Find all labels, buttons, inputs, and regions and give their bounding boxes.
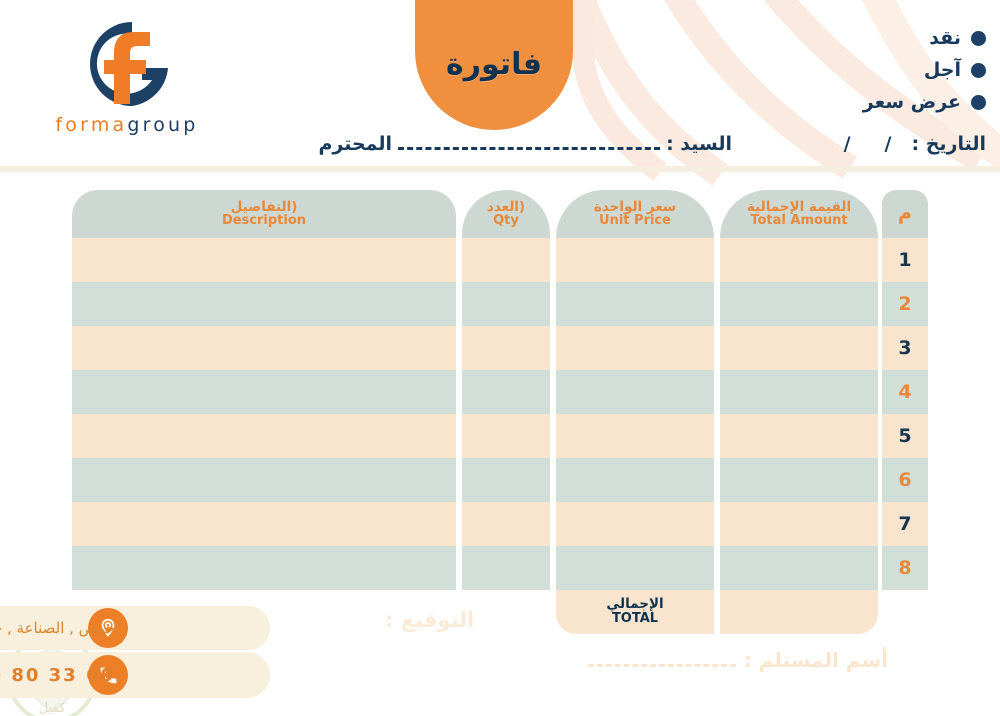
cell-qty[interactable] [462,502,550,546]
invoice-title-badge: فاتورة [415,0,573,130]
receiver-name-field[interactable]: أسم المستلم : [588,648,888,672]
cell-description[interactable] [72,502,456,546]
cell-row-number: 3 [882,326,928,370]
cell-qty[interactable] [462,370,550,414]
table-row: 8 [0,546,1000,590]
header-divider [0,166,1000,172]
cell-unit-price[interactable] [556,502,714,546]
radio-dot-icon[interactable] [971,95,986,110]
forma-g-monogram-icon [80,18,180,110]
cell-description[interactable] [72,546,456,590]
cell-row-number: 2 [882,282,928,326]
cell-qty[interactable] [462,282,550,326]
table-row: 2 [0,282,1000,326]
payment-option-quote[interactable]: عرض سعر [756,86,986,118]
column-header-unit-price: سعر الواحدة Unit Price [556,190,714,238]
address-pill: حمص , الصناعة , خلف كراج الحجز [0,606,270,650]
phone-pill: 09 30 80 33 60 [0,652,270,698]
date-field[interactable]: التاريخ : / / [830,133,986,155]
cell-qty[interactable] [462,326,550,370]
date-slash-1: / [871,133,906,155]
payment-option-cash[interactable]: نقد [756,22,986,54]
company-logo: formagroup [22,18,232,138]
cell-unit-price[interactable] [556,414,714,458]
cell-qty[interactable] [462,238,550,282]
column-header-ar: القيمة الإجمالية [747,200,851,214]
payment-option-credit[interactable]: آجل [756,54,986,86]
table-row: 6 [0,458,1000,502]
customer-name-field[interactable]: السيد : المحترم [318,133,732,155]
column-header-description: (التفاصيل Description [72,190,456,238]
column-header-ar: (العدد [487,200,525,214]
table-row: 3 [0,326,1000,370]
table-header-row: (التفاصيل Description (العدد Qty سعر الو… [0,190,1000,238]
cell-row-number: 6 [882,458,928,502]
cell-unit-price[interactable] [556,238,714,282]
cell-total-amount[interactable] [720,546,878,590]
cell-unit-price[interactable] [556,546,714,590]
cell-total-amount[interactable] [720,502,878,546]
radio-dot-icon[interactable] [971,63,986,78]
cell-row-number: 1 [882,238,928,282]
cell-row-number: 8 [882,546,928,590]
column-header-en: Qty [493,214,519,228]
table-row: 5 [0,414,1000,458]
invoice-header: formagroup فاتورة نقد آجل عرض سعر التاري [0,0,1000,168]
column-header-ar: (التفاصيل [231,200,298,214]
payment-option-label: نقد [929,27,961,49]
invoice-title: فاتورة [446,47,542,82]
cell-unit-price[interactable] [556,458,714,502]
column-header-ar: سعر الواحدة [594,200,676,214]
cell-row-number: 5 [882,414,928,458]
phone-text: 09 30 80 33 60 [0,665,115,686]
customer-name-suffix: المحترم [318,133,392,155]
cell-total-amount[interactable] [720,238,878,282]
cell-total-amount[interactable] [720,414,878,458]
payment-option-label: آجل [924,59,961,81]
cell-row-number: 4 [882,370,928,414]
radio-dot-icon[interactable] [971,31,986,46]
date-label: التاريخ : [911,133,986,155]
signature-label: التوقيع : [385,608,474,632]
cell-row-number: 7 [882,502,928,546]
date-slash-2: / [830,133,865,155]
company-wordmark: formagroup [22,114,232,136]
receiver-name-label: أسم المستلم : [744,648,888,672]
customer-name-label: السيد : [666,133,732,155]
cell-qty[interactable] [462,546,550,590]
cell-total-amount[interactable] [720,282,878,326]
cell-description[interactable] [72,414,456,458]
cell-description[interactable] [72,282,456,326]
column-header-ar: م [898,204,912,224]
cell-description[interactable] [72,238,456,282]
column-header-en: Unit Price [599,214,671,228]
cell-qty[interactable] [462,414,550,458]
invoice-page: formagroup فاتورة نقد آجل عرض سعر التاري [0,0,1000,716]
customer-name-input-line[interactable] [398,137,660,150]
column-header-qty: (العدد Qty [462,190,550,238]
cell-qty[interactable] [462,458,550,502]
cell-total-amount[interactable] [720,326,878,370]
table-row: 7 [0,502,1000,546]
column-header-en: Total Amount [750,214,847,228]
cell-unit-price[interactable] [556,370,714,414]
table-row: 4 [0,370,1000,414]
cell-total-amount[interactable] [720,370,878,414]
line-items-table: (التفاصيل Description (العدد Qty سعر الو… [0,190,1000,634]
cell-description[interactable] [72,326,456,370]
cell-description[interactable] [72,458,456,502]
cell-description[interactable] [72,370,456,414]
address-text: حمص , الصناعة , خلف كراج الحجز [0,619,115,637]
cell-total-amount[interactable] [720,458,878,502]
wordmark-group: group [127,114,198,136]
column-header-en: Description [222,214,306,228]
payment-options-group: نقد آجل عرض سعر [756,22,986,118]
receiver-name-input-line[interactable] [588,655,736,667]
table-body: 12345678 [0,238,1000,590]
column-header-row-number: م [882,190,928,238]
cell-unit-price[interactable] [556,282,714,326]
cell-unit-price[interactable] [556,326,714,370]
column-header-total-amount: القيمة الإجمالية Total Amount [720,190,878,238]
wordmark-forma: forma [55,114,127,136]
payment-option-label: عرض سعر [863,91,961,113]
table-row: 1 [0,238,1000,282]
